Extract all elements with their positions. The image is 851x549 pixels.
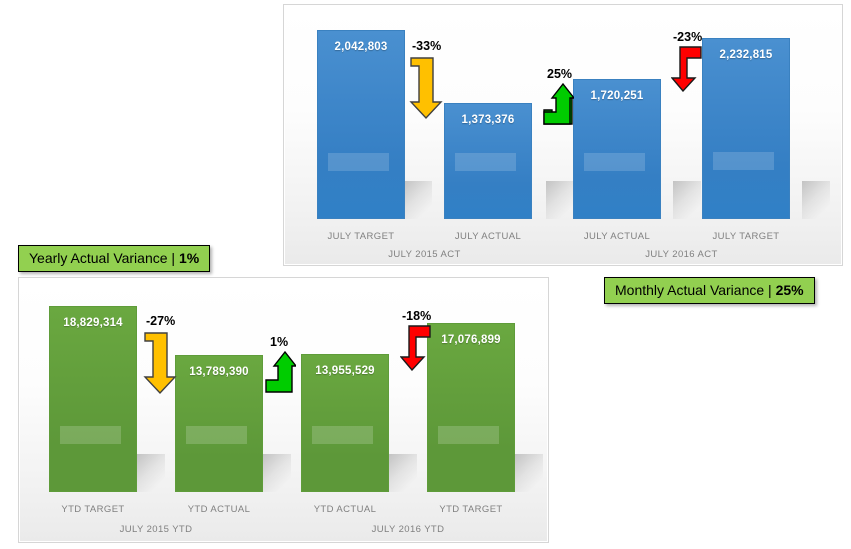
bar-value-label: 18,829,314 bbox=[50, 317, 136, 329]
category-label-3: JULY TARGET bbox=[702, 231, 790, 242]
variance-label-1: 25% bbox=[547, 67, 572, 81]
category-label-2: JULY ACTUAL bbox=[573, 231, 661, 242]
category-label-0: JULY TARGET bbox=[317, 231, 405, 242]
monthly-variance-chart-panel: 2,042,803 1,373,376 1,720,251 2,232,815 … bbox=[283, 4, 843, 266]
variance-arrow-down-red-icon bbox=[671, 44, 703, 92]
bar-shadow bbox=[389, 454, 417, 492]
bar-yearly-1[interactable]: 13,789,390 bbox=[175, 355, 263, 492]
bar-band bbox=[713, 152, 773, 170]
monthly-actual-variance-callout[interactable]: Monthly Actual Variance | 25% bbox=[604, 277, 815, 304]
bar-value-label: 17,076,899 bbox=[428, 334, 514, 346]
category-label-1: JULY ACTUAL bbox=[444, 231, 532, 242]
yearly-variance-chart-panel: 18,829,314 13,789,390 13,955,529 17,076,… bbox=[18, 277, 549, 543]
category-label-1: YTD ACTUAL bbox=[175, 504, 263, 515]
bar-value-label: 2,042,803 bbox=[318, 41, 404, 53]
category-label-3: YTD TARGET bbox=[427, 504, 515, 515]
bar-value-label: 1,720,251 bbox=[574, 90, 660, 102]
bar-band bbox=[438, 426, 498, 444]
monthly-callout-label: Monthly Actual Variance | bbox=[615, 282, 776, 298]
bar-monthly-0[interactable]: 2,042,803 bbox=[317, 30, 405, 219]
variance-label-2: -23% bbox=[673, 30, 702, 44]
bar-value-label: 13,955,529 bbox=[302, 365, 388, 377]
bar-shadow bbox=[263, 454, 291, 492]
category-label-2: YTD ACTUAL bbox=[301, 504, 389, 515]
monthly-plot-area: 2,042,803 1,373,376 1,720,251 2,232,815 … bbox=[284, 5, 842, 265]
yearly-actual-variance-callout[interactable]: Yearly Actual Variance | 1% bbox=[18, 245, 210, 272]
bar-band bbox=[312, 426, 372, 444]
bar-value-label: 1,373,376 bbox=[445, 114, 531, 126]
bar-band bbox=[584, 153, 644, 171]
bar-shadow bbox=[404, 181, 432, 219]
bar-monthly-2[interactable]: 1,720,251 bbox=[573, 79, 661, 219]
monthly-callout-value: 25% bbox=[776, 282, 804, 298]
bar-band bbox=[455, 153, 515, 171]
bar-shadow bbox=[546, 181, 574, 219]
bar-band bbox=[60, 426, 120, 444]
group-label-0: JULY 2015 ACT bbox=[317, 249, 532, 260]
group-label-1: JULY 2016 YTD bbox=[301, 524, 515, 535]
variance-arrow-up-green-icon bbox=[542, 82, 574, 126]
category-label-0: YTD TARGET bbox=[49, 504, 137, 515]
variance-label-1: 1% bbox=[270, 335, 288, 349]
bar-shadow bbox=[137, 454, 165, 492]
variance-label-0: -33% bbox=[412, 39, 441, 53]
bar-monthly-3[interactable]: 2,232,815 bbox=[702, 38, 790, 219]
bar-value-label: 13,789,390 bbox=[176, 366, 262, 378]
bar-yearly-0[interactable]: 18,829,314 bbox=[49, 306, 137, 492]
group-label-0: JULY 2015 YTD bbox=[49, 524, 263, 535]
bar-band bbox=[186, 426, 246, 444]
bar-shadow bbox=[673, 181, 701, 219]
bar-value-label: 2,232,815 bbox=[703, 49, 789, 61]
group-label-1: JULY 2016 ACT bbox=[573, 249, 790, 260]
yearly-callout-value: 1% bbox=[179, 250, 199, 266]
variance-label-0: -27% bbox=[146, 314, 175, 328]
bar-yearly-3[interactable]: 17,076,899 bbox=[427, 323, 515, 492]
yearly-plot-area: 18,829,314 13,789,390 13,955,529 17,076,… bbox=[19, 278, 548, 542]
variance-arrow-down-orange-icon bbox=[409, 54, 443, 120]
variance-label-2: -18% bbox=[402, 309, 431, 323]
variance-arrow-up-green-icon bbox=[264, 350, 296, 394]
yearly-callout-label: Yearly Actual Variance | bbox=[29, 250, 179, 266]
bar-shadow bbox=[515, 454, 543, 492]
variance-arrow-down-red-icon bbox=[400, 323, 432, 371]
bar-band bbox=[328, 153, 388, 171]
bar-shadow bbox=[802, 181, 830, 219]
bar-monthly-1[interactable]: 1,373,376 bbox=[444, 103, 532, 219]
variance-arrow-down-orange-icon bbox=[143, 329, 177, 395]
bar-yearly-2[interactable]: 13,955,529 bbox=[301, 354, 389, 492]
